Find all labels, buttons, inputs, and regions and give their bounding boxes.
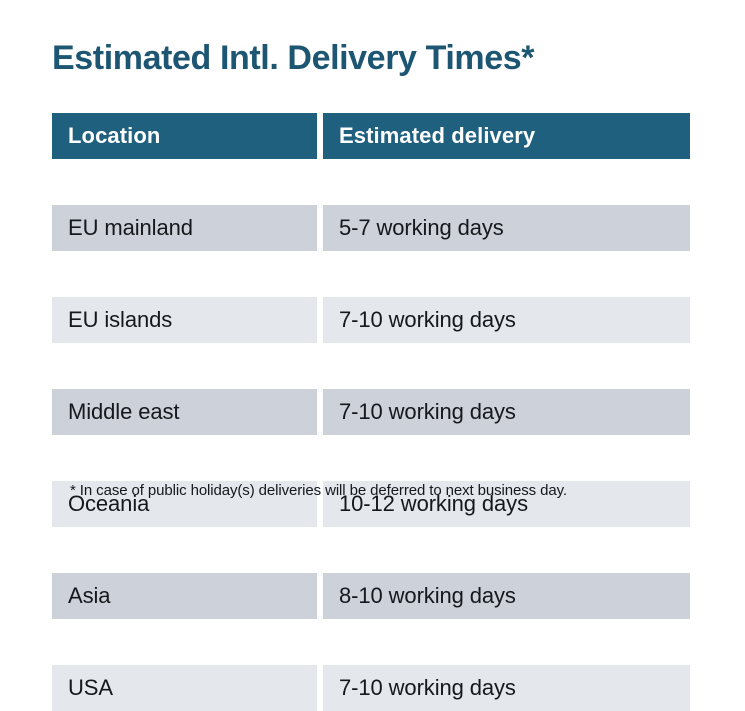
row-gap xyxy=(52,159,690,205)
cell-delivery: 5-7 working days xyxy=(323,205,690,251)
table-header: Location Estimated delivery xyxy=(52,113,690,159)
column-header-location: Location xyxy=(52,113,317,159)
row-gap xyxy=(52,527,690,573)
table-body: EU mainland 5-7 working days EU islands … xyxy=(52,159,690,711)
table-row: EU mainland 5-7 working days xyxy=(52,205,690,251)
footnote-text: * In case of public holiday(s) deliverie… xyxy=(70,480,567,502)
cell-location: USA xyxy=(52,665,317,711)
table-row: Asia 8-10 working days xyxy=(52,573,690,619)
cell-delivery: 7-10 working days xyxy=(323,297,690,343)
row-gap xyxy=(52,251,690,297)
row-gap xyxy=(52,343,690,389)
table-row: EU islands 7-10 working days xyxy=(52,297,690,343)
cell-location: Middle east xyxy=(52,389,317,435)
table-row: Middle east 7-10 working days xyxy=(52,389,690,435)
table-row: USA 7-10 working days xyxy=(52,665,690,711)
cell-location: Asia xyxy=(52,573,317,619)
column-header-estimated-delivery: Estimated delivery xyxy=(323,113,690,159)
row-gap xyxy=(52,435,690,481)
row-gap xyxy=(52,619,690,665)
delivery-times-page: Estimated Intl. Delivery Times* Location… xyxy=(0,0,745,536)
cell-delivery: 7-10 working days xyxy=(323,665,690,711)
estimated-delivery-times-table: Location Estimated delivery EU mainland … xyxy=(52,113,690,711)
page-title: Estimated Intl. Delivery Times* xyxy=(52,36,534,80)
table-header-row: Location Estimated delivery xyxy=(52,113,690,159)
cell-delivery: 8-10 working days xyxy=(323,573,690,619)
cell-location: EU mainland xyxy=(52,205,317,251)
cell-location: EU islands xyxy=(52,297,317,343)
cell-delivery: 7-10 working days xyxy=(323,389,690,435)
